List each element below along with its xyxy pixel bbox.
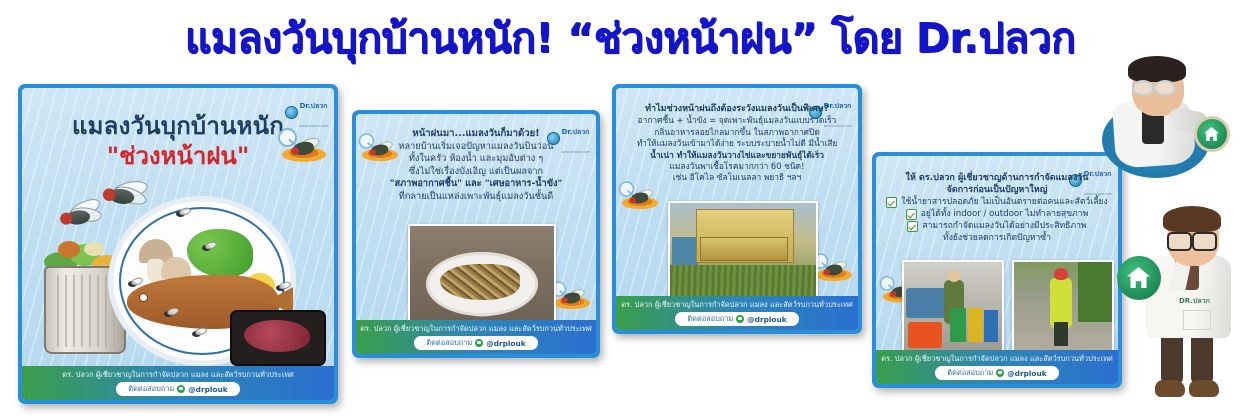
mascot-coat-label: DR.ปลวก bbox=[1179, 296, 1210, 307]
poster-card-3[interactable]: Dr.ปลวก www.drplouk.com ทำไมช่วงหน้าฝนถึ… bbox=[612, 84, 862, 334]
card-3-line-6: แมลงวันพาเชื้อโรคมากกว่า 60 ชนิด! bbox=[624, 161, 850, 172]
page-title: แมลงวันบุกบ้านหนัก! “ช่วงหน้าฝน” โดย Dr.… bbox=[0, 10, 1260, 66]
line-icon bbox=[996, 369, 1004, 377]
contact-label: ติดต่อสอบถาม bbox=[128, 383, 174, 395]
fly-icon bbox=[126, 279, 140, 288]
card-3-line-3: กลิ่นอาหารลอยไกลมากขึ้น ในสภาพอากาศปิด bbox=[624, 127, 850, 138]
fly-icon bbox=[190, 329, 204, 338]
checklist-label: อยู่ได้ทั้ง indoor / outdoor ไม่ทำลายสุข… bbox=[921, 208, 1089, 220]
contact-handle: @drplouk bbox=[486, 339, 525, 348]
card-1-title-line2: "ช่วงหน้าฝน" bbox=[22, 136, 334, 175]
check-icon bbox=[886, 197, 897, 208]
fly-icon bbox=[59, 200, 106, 232]
card-3-line-7: เช่น อีโคไล ซัลโมเนลลา พยาธิ ฯลฯ bbox=[624, 172, 850, 183]
poster-card-2[interactable]: Dr.ปลวก www.drplouk.com หน้าฝนมา...แมลงว… bbox=[352, 110, 600, 358]
card-footer: ดร. ปลวก ผู้เชี่ยวชาญในการกำจัดปลวก แมลง… bbox=[22, 366, 334, 400]
card-footer: ดร. ปลวก ผู้เชี่ยวชาญในการกำจัดปลวก แมลง… bbox=[356, 320, 596, 354]
poster-card-4[interactable]: Dr.ปลวก www.drplouk.com ให้ ดร.ปลวก ผู้เ… bbox=[872, 152, 1122, 388]
card-3-line-4: ทำให้แมลงวันเข้ามาได้ง่าย ระบบระบายน้ำไม… bbox=[624, 138, 850, 149]
contact-handle: @drplouk bbox=[188, 385, 227, 394]
steak-tray-illustration bbox=[230, 310, 326, 366]
footer-tagline: ดร. ปลวก ผู้เชี่ยวชาญในการกำจัดปลวก แมลง… bbox=[360, 323, 592, 334]
card-3-photo bbox=[668, 201, 818, 301]
fly-icon bbox=[101, 178, 151, 214]
contact-pill[interactable]: ติดต่อสอบถาม @drplouk bbox=[414, 336, 537, 350]
contact-pill[interactable]: ติดต่อสอบถาม @drplouk bbox=[935, 366, 1058, 380]
poster-card-1[interactable]: Dr.ปลวก www.drplouk.com แมลงวันบุกบ้านหน… bbox=[18, 84, 338, 404]
checklist-label: ใช้น้ำยาสารปลอดภัย ไม่เป็นอันตรายต่อคนแล… bbox=[901, 196, 1107, 208]
checklist-item: อยู่ได้ทั้ง indoor / outdoor ไม่ทำลายสุข… bbox=[884, 208, 1110, 220]
contact-label: ติดต่อสอบถาม bbox=[687, 313, 733, 325]
card-2-line-5: "สภาพอากาศชื้น" และ "เศษอาหาร-น้ำขัง" bbox=[364, 178, 588, 191]
card-footer: ดร. ปลวก ผู้เชี่ยวชาญในการกำจัดปลวก แมลง… bbox=[876, 350, 1118, 384]
card-footer: ดร. ปลวก ผู้เชี่ยวชาญในการกำจัดปลวก แมลง… bbox=[616, 296, 858, 330]
contact-label: ติดต่อสอบถาม bbox=[426, 337, 472, 349]
card-4-photo-pair bbox=[902, 260, 1114, 354]
checklist-item: ใช้น้ำยาสารปลอดภัย ไม่เป็นอันตรายต่อคนแล… bbox=[884, 196, 1110, 208]
fly-on-puddle-icon bbox=[816, 255, 852, 281]
fly-icon bbox=[200, 243, 214, 252]
checklist-item: สามารถกำจัดแมลงวันได้อย่างมีประสิทธิภาพ bbox=[884, 220, 1110, 232]
contact-pill[interactable]: ติดต่อสอบถาม @drplouk bbox=[675, 312, 798, 326]
contact-handle: @drplouk bbox=[1007, 369, 1046, 378]
footer-tagline: ดร. ปลวก ผู้เชี่ยวชาญในการกำจัดปลวก แมลง… bbox=[881, 353, 1113, 364]
card-3-line-1: ทำไมช่วงหน้าฝนถึงต้องระวังแมลงวันเป็นพิเ… bbox=[624, 104, 850, 115]
card-2-line-6: ที่กลายเป็นแหล่งเพาะพันธุ์แมลงวันชั้นดี bbox=[364, 191, 588, 204]
poster-collage: แมลงวันบุกบ้านหนัก! “ช่วงหน้าฝน” โดย Dr.… bbox=[0, 0, 1260, 416]
contact-pill[interactable]: ติดต่อสอบถาม @drplouk bbox=[116, 382, 239, 396]
footer-tagline: ดร. ปลวก ผู้เชี่ยวชาญในการกำจัดปลวก แมลง… bbox=[621, 299, 853, 310]
card-2-line-1: หน้าฝนมา...แมลงวันก็มาด้วย! bbox=[364, 128, 588, 141]
card-4-headline-line1: ให้ ดร.ปลวก ผู้เชี่ยวชาญด้านการกำจัดแมลง… bbox=[884, 172, 1110, 184]
line-icon bbox=[736, 315, 744, 323]
card-2-inner: Dr.ปลวก www.drplouk.com หน้าฝนมา...แมลงว… bbox=[356, 114, 596, 354]
contact-handle: @drplouk bbox=[747, 315, 786, 324]
check-icon bbox=[907, 221, 918, 232]
line-icon bbox=[475, 339, 483, 347]
contact-label: ติดต่อสอบถาม bbox=[947, 367, 993, 379]
card-3-inner: Dr.ปลวก www.drplouk.com ทำไมช่วงหน้าฝนถึ… bbox=[616, 88, 858, 330]
doctor-mascot-bottom: DR.ปลวก bbox=[1123, 198, 1251, 416]
card-2-line-4: ซึ่งไม่ใช่เรื่องบังเอิญ แต่เป็นผลจาก bbox=[364, 166, 588, 179]
fly-on-puddle-icon bbox=[554, 283, 590, 309]
card-1-inner: Dr.ปลวก www.drplouk.com แมลงวันบุกบ้านหน… bbox=[22, 88, 334, 400]
fly-icon bbox=[274, 283, 288, 292]
card-2-line-2: หลายบ้านเริ่มเจอปัญหาแมลงวันบินว่อน bbox=[364, 141, 588, 154]
check-icon bbox=[906, 209, 917, 220]
fly-on-puddle-icon bbox=[622, 183, 658, 209]
card-4-body: ให้ ดร.ปลวก ผู้เชี่ยวชาญด้านการกำจัดแมลง… bbox=[884, 172, 1110, 244]
card-4-photo-left bbox=[902, 260, 1004, 354]
card-2-body: หน้าฝนมา...แมลงวันก็มาด้วย! หลายบ้านเริ่… bbox=[364, 128, 588, 204]
line-icon bbox=[177, 385, 185, 393]
fly-icon bbox=[162, 309, 176, 318]
home-badge-icon bbox=[1194, 116, 1230, 152]
card-3-line-2: อากาศชื้น + น้ำขัง = จุดเพาะพันธุ์แมลงวั… bbox=[624, 115, 850, 126]
card-4-headline-line2: จัดการก่อนเป็นปัญหาใหญ่ bbox=[884, 184, 1110, 196]
card-2-photo bbox=[408, 224, 556, 326]
card-2-line-3: ทั้งในครัว ห้องน้ำ และมุมอับต่าง ๆ bbox=[364, 153, 588, 166]
glasses-icon bbox=[1167, 232, 1217, 247]
glasses-icon bbox=[1132, 80, 1176, 92]
card-3-line-5: น้ำเน่า ทำให้แมลงวันวางไข่และขยายพันธุ์ไ… bbox=[624, 150, 850, 161]
checklist-label: สามารถกำจัดแมลงวันได้อย่างมีประสิทธิภาพ bbox=[922, 220, 1086, 232]
fly-icon bbox=[174, 209, 188, 218]
home-badge-icon bbox=[1117, 256, 1161, 300]
card-3-body: ทำไมช่วงหน้าฝนถึงต้องระวังแมลงวันเป็นพิเ… bbox=[624, 104, 850, 184]
footer-tagline: ดร. ปลวก ผู้เชี่ยวชาญในการกำจัดปลวก แมลง… bbox=[62, 369, 294, 380]
card-4-photo-right bbox=[1012, 260, 1114, 354]
card-4-inner: Dr.ปลวก www.drplouk.com ให้ ดร.ปลวก ผู้เ… bbox=[876, 156, 1118, 384]
card-4-closing-line: ทั้งยังช่วยลดการเกิดปัญหาซ้ำ bbox=[884, 232, 1110, 244]
